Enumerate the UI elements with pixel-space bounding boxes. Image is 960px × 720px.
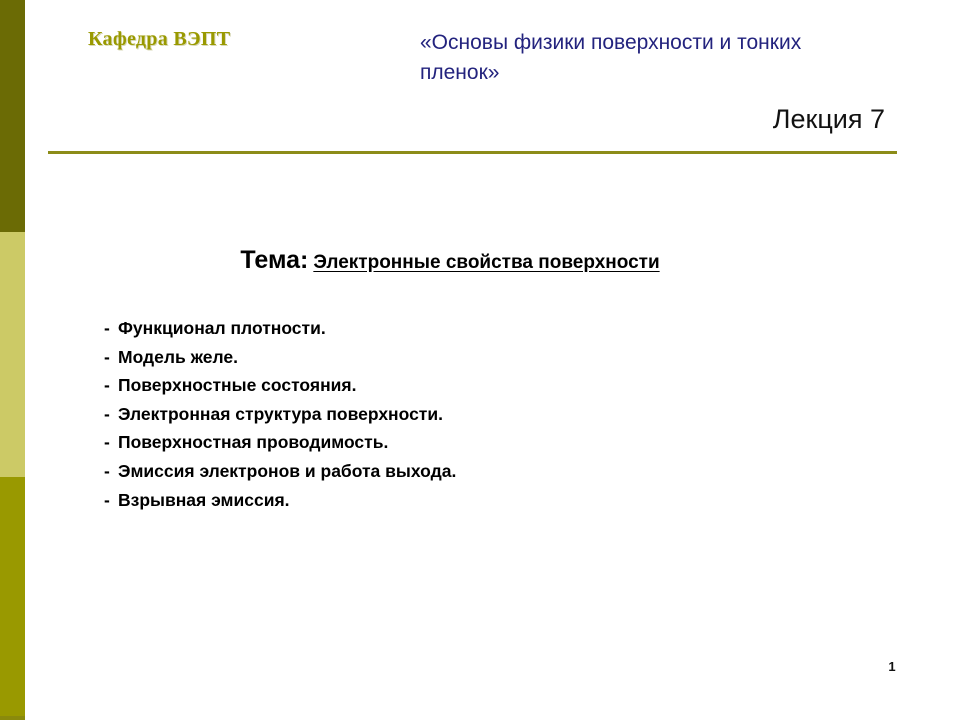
outline-dash-marker: -: [104, 486, 118, 515]
outline-item-label: Электронная структура поверхности.: [118, 404, 443, 424]
outline-dash-marker: -: [104, 400, 118, 429]
sidebar-band-mid-olive: [0, 477, 25, 716]
outline-item: -Поверхностная проводимость.: [104, 428, 456, 457]
sidebar-band-foot-olive: [0, 716, 25, 720]
outline-item-label: Поверхностные состояния.: [118, 375, 357, 395]
outline-dash-marker: -: [104, 371, 118, 400]
header-divider-rule: [48, 151, 897, 154]
outline-item: -Взрывная эмиссия.: [104, 486, 456, 515]
sidebar-decoration: [0, 0, 25, 720]
outline-list: -Функционал плотности.-Модель желе.-Пове…: [104, 314, 456, 514]
department-label: Кафедра ВЭПТ: [88, 28, 230, 51]
outline-item-label: Функционал плотности.: [118, 318, 326, 338]
outline-item-label: Модель желе.: [118, 347, 238, 367]
outline-item: -Электронная структура поверхности.: [104, 400, 456, 429]
outline-dash-marker: -: [104, 428, 118, 457]
outline-item: -Эмиссия электронов и работа выхода.: [104, 457, 456, 486]
page-number: 1: [872, 659, 912, 674]
course-title: «Основы физики поверхности и тонких плен…: [420, 28, 860, 88]
topic-heading-key: Тема:: [240, 246, 308, 274]
outline-item-label: Эмиссия электронов и работа выхода.: [118, 461, 456, 481]
slide-canvas: Кафедра ВЭПТ «Основы физики поверхности …: [0, 0, 960, 720]
topic-heading-value: Электронные свойства поверхности: [313, 252, 659, 273]
outline-dash-marker: -: [104, 457, 118, 486]
outline-item: -Модель желе.: [104, 343, 456, 372]
outline-item-label: Поверхностная проводимость.: [118, 432, 388, 452]
lecture-number-label: Лекция 7: [420, 104, 885, 135]
outline-item: -Функционал плотности.: [104, 314, 456, 343]
outline-item-label: Взрывная эмиссия.: [118, 490, 290, 510]
outline-dash-marker: -: [104, 314, 118, 343]
topic-heading: Тема:Электронные свойства поверхности: [0, 246, 900, 275]
outline-dash-marker: -: [104, 343, 118, 372]
outline-item: -Поверхностные состояния.: [104, 371, 456, 400]
sidebar-band-dark-olive: [0, 0, 25, 232]
